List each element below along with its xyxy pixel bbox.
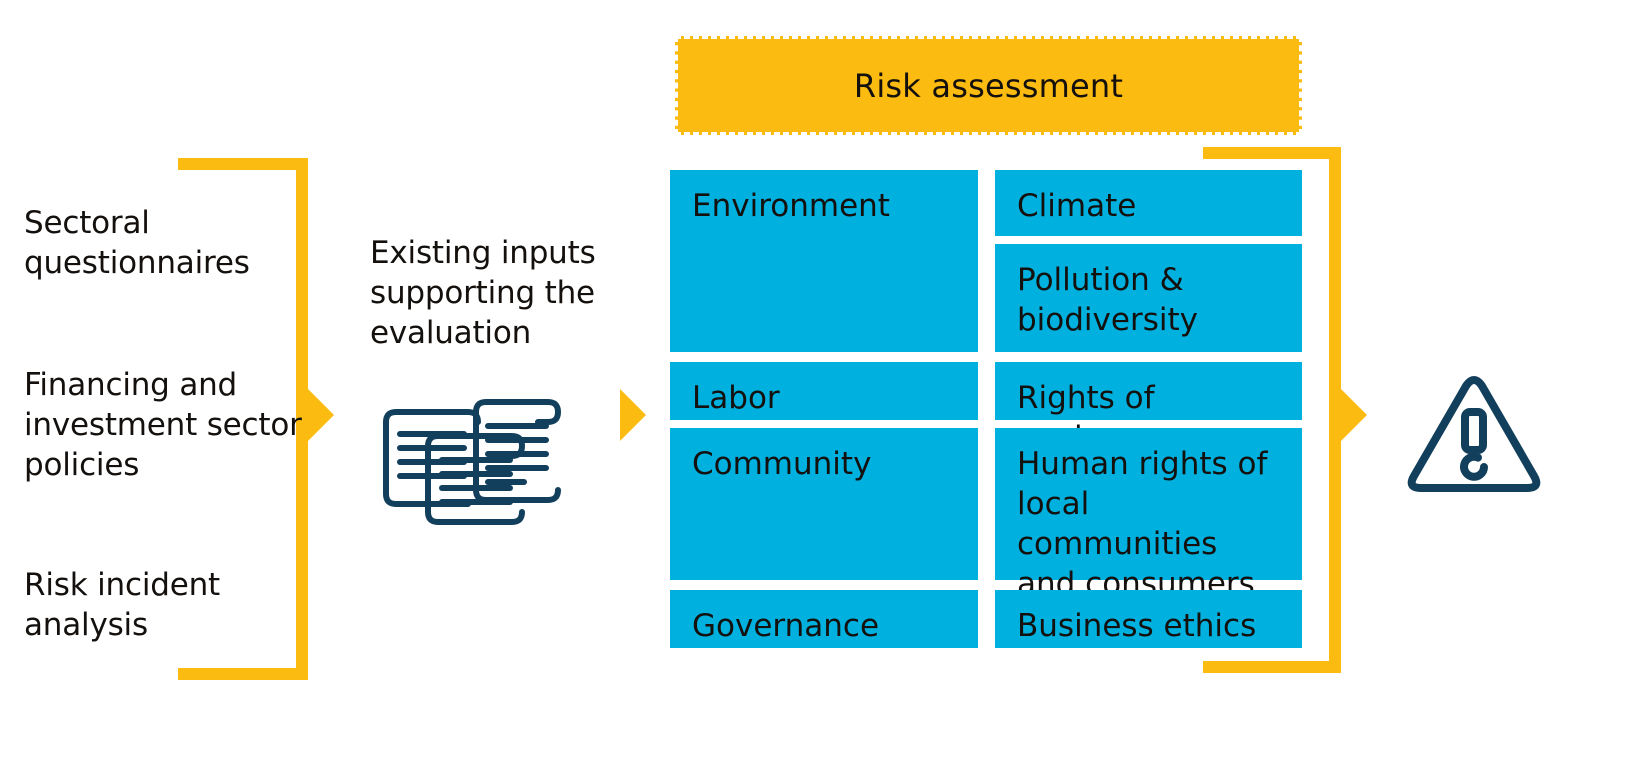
arrow-matrix-to-output-icon xyxy=(1341,389,1367,441)
risk-assessment-banner-label: Risk assessment xyxy=(854,67,1123,105)
arrow-middle-to-matrix-icon xyxy=(620,389,646,441)
documents-scrolls-icon xyxy=(372,390,577,535)
category-box-labor[interactable]: Labor xyxy=(670,362,978,420)
input-item-risk-incident-analysis: Risk incident analysis xyxy=(24,565,324,645)
warning-triangle-icon xyxy=(1404,372,1544,496)
input-item-financing-investment-policies: Financing and investment sector policies xyxy=(24,365,324,485)
output-bracket-bottom-arm xyxy=(1203,661,1341,673)
output-bracket-stem xyxy=(1329,147,1341,673)
diagram-canvas: Sectoral questionnaires Financing and in… xyxy=(0,0,1647,775)
risk-assessment-banner: Risk assessment xyxy=(675,36,1302,135)
output-bracket xyxy=(1203,147,1341,673)
input-item-sectoral-questionnaires: Sectoral questionnaires xyxy=(24,203,324,283)
middle-caption: Existing inputs supporting the evaluatio… xyxy=(370,233,610,353)
inputs-bracket-top-arm xyxy=(178,158,308,170)
category-box-environment[interactable]: Environment xyxy=(670,170,978,352)
output-bracket-top-arm xyxy=(1203,147,1341,159)
category-box-community[interactable]: Community xyxy=(670,428,978,580)
inputs-bracket-bottom-arm xyxy=(178,668,308,680)
category-box-governance[interactable]: Governance xyxy=(670,590,978,648)
